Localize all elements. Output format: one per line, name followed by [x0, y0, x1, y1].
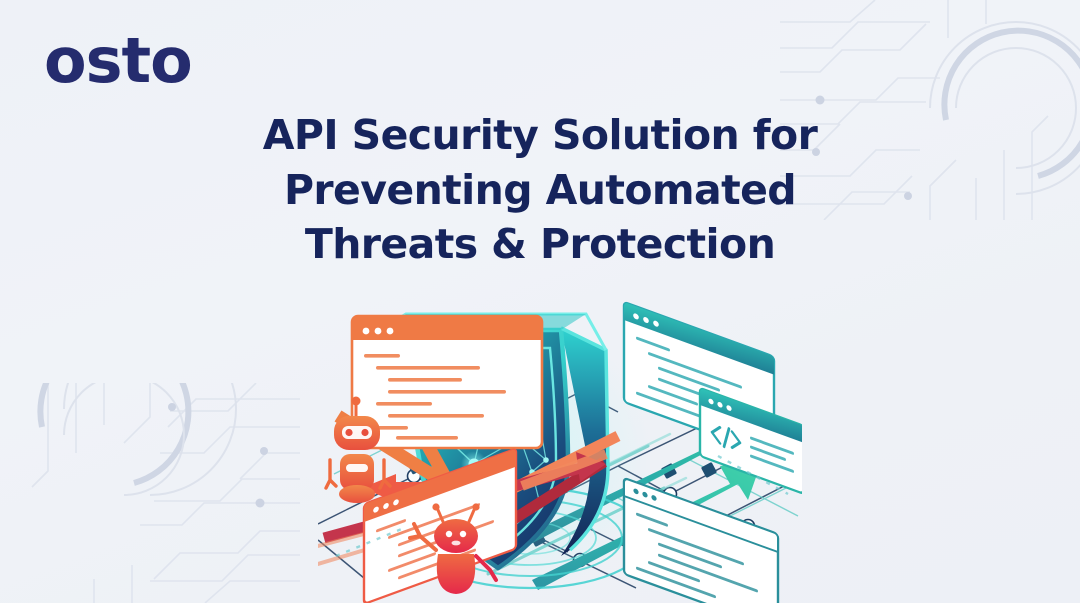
api-security-shield-illustration	[318, 288, 802, 603]
circuit-pattern-bottom-left	[0, 383, 300, 603]
page-title-line-3: Threats & Protection	[230, 217, 850, 272]
page-title-line-2: Preventing Automated	[230, 163, 850, 218]
promo-banner: osto API Security Solution for Preventin…	[0, 0, 1080, 603]
malicious-code-window-top-left	[352, 316, 542, 448]
page-title: API Security Solution for Preventing Aut…	[230, 108, 850, 272]
trusted-code-window-bottom-right	[624, 478, 778, 603]
brand-logo: osto	[44, 30, 192, 92]
page-title-line-1: API Security Solution for	[230, 108, 850, 163]
